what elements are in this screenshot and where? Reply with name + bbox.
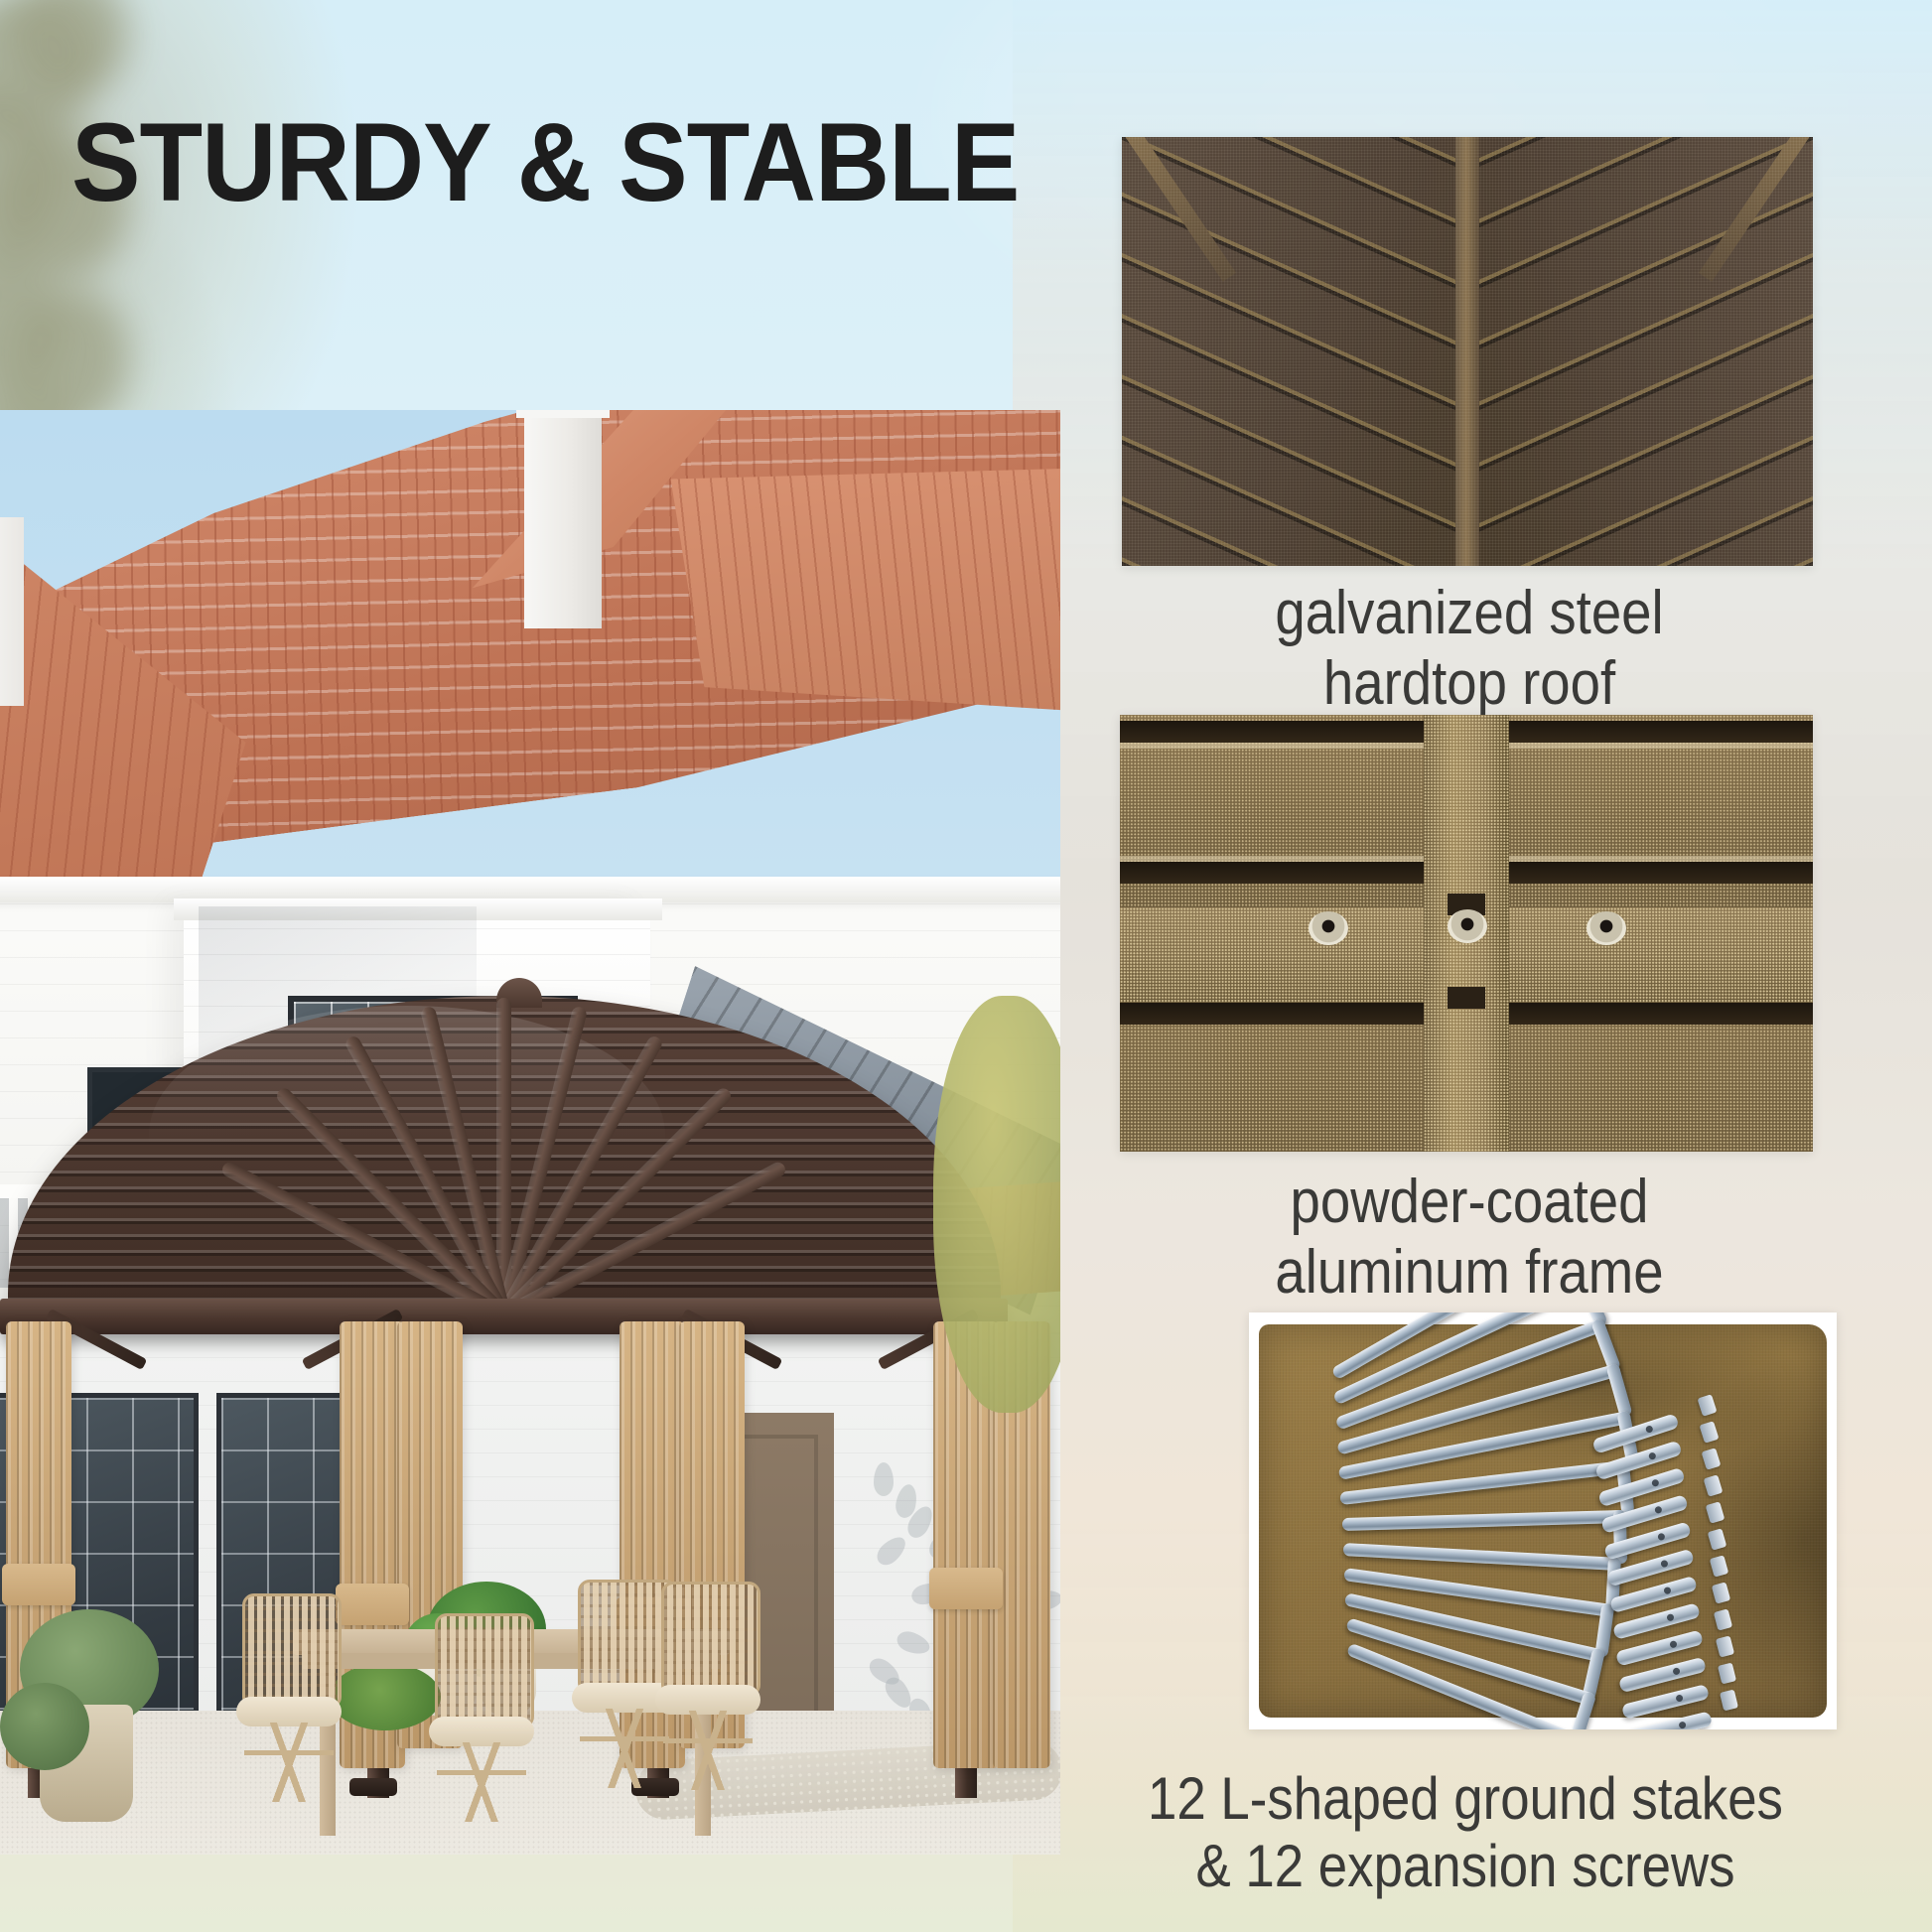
- frame-screw-3: [1587, 911, 1626, 945]
- roof-texture-overlay: [1122, 137, 1813, 566]
- lifestyle-hero-photo: [0, 410, 1060, 1855]
- caption-line-1: 12 L-shaped ground stakes: [1067, 1765, 1864, 1833]
- chair-back: [435, 1613, 534, 1728]
- chair-back: [661, 1582, 760, 1697]
- leaf-shadow-pattern: [874, 1462, 1052, 1740]
- chimney-cap: [516, 410, 610, 418]
- product-feature-image: STURDY & STABLE: [0, 0, 1932, 1932]
- balcony-solid-panel: [328, 1186, 556, 1325]
- window-upper-small: [87, 1067, 187, 1196]
- chair-back: [242, 1593, 342, 1709]
- window-upper-large: [288, 996, 578, 1206]
- ground-bush: [0, 1683, 89, 1770]
- railing-post-2: [195, 1176, 220, 1308]
- caption-line-2: & 12 expansion screws: [1067, 1833, 1864, 1900]
- frame-screw-2: [1448, 909, 1487, 943]
- panel-stakes-screws-image: [1249, 1312, 1837, 1729]
- caption-aluminum-frame: powder-coated aluminum frame: [1094, 1168, 1846, 1308]
- frame-notch-right: [1448, 987, 1485, 1009]
- caption-stakes-screws: 12 L-shaped ground stakes & 12 expansion…: [1067, 1765, 1864, 1901]
- window-lower-right: [675, 1145, 913, 1274]
- frame-screw-1: [1309, 911, 1348, 945]
- chimney-right: [524, 410, 602, 628]
- panel-hardtop-roof-image: [1122, 137, 1813, 566]
- caption-line-1: galvanized steel: [1094, 579, 1846, 649]
- panel-aluminum-frame-image: [1120, 715, 1813, 1152]
- railing-post-1: [58, 1176, 83, 1308]
- chair-legs: [663, 1711, 753, 1790]
- caption-line-2: aluminum frame: [1094, 1238, 1846, 1309]
- dining-chair-1: [236, 1593, 342, 1802]
- olive-tree: [933, 996, 1060, 1413]
- grass-clump: [330, 1663, 441, 1730]
- page-title: STURDY & STABLE: [71, 107, 1019, 218]
- caption-line-1: powder-coated: [1094, 1168, 1846, 1238]
- caption-hardtop-roof: galvanized steel hardtop roof: [1094, 579, 1846, 719]
- caption-line-2: hardtop roof: [1094, 649, 1846, 720]
- chair-legs: [437, 1742, 526, 1822]
- chimney-left: [0, 517, 24, 706]
- chair-legs: [244, 1723, 334, 1802]
- dining-chair-4: [655, 1582, 760, 1790]
- dining-chair-2: [429, 1613, 534, 1822]
